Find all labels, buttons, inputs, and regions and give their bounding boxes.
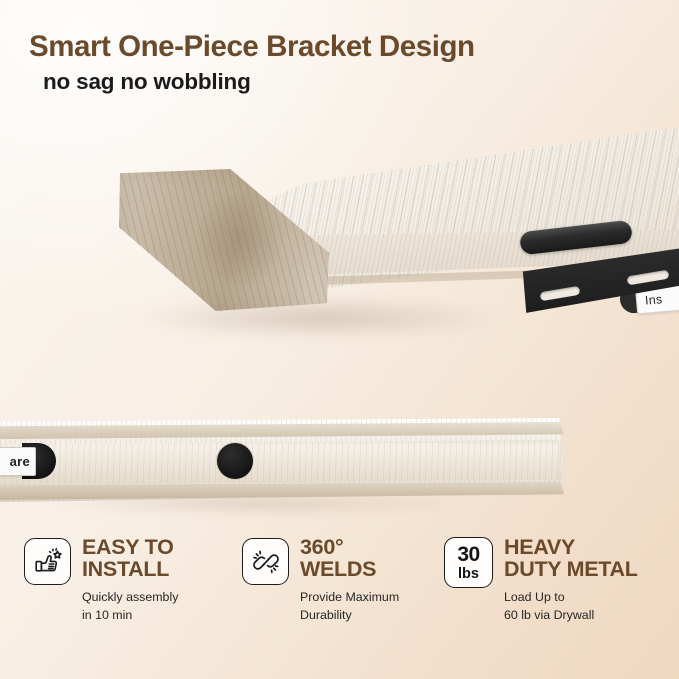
shelf-drill-hole <box>217 443 253 479</box>
badge-unit: lbs <box>458 567 479 582</box>
feature-title: 360° WELDS <box>300 537 399 580</box>
feature-strip: EASY TO INSTALL Quickly assembly in 10 m… <box>24 536 672 624</box>
feature-text-block: HEAVY DUTY METAL Load Up to 60 lb via Dr… <box>504 536 638 624</box>
feature-title: EASY TO INSTALL <box>82 537 178 580</box>
chain-link-weld-icon <box>242 538 289 585</box>
feature-easy-to-install: EASY TO INSTALL Quickly assembly in 10 m… <box>24 536 242 624</box>
wood-knot-mark <box>420 140 461 158</box>
shelf-sticker-label-detail: are <box>0 447 36 476</box>
feature-subtitle: Provide Maximum Durability <box>300 589 399 624</box>
feature-360-welds: 360° WELDS Provide Maximum Durability <box>242 536 444 624</box>
shelf-routed-channel <box>0 440 562 486</box>
feature-subtitle: Quickly assembly in 10 min <box>82 589 178 624</box>
product-feature-page: Smart One-Piece Bracket Design no sag no… <box>0 0 679 679</box>
weight-capacity-badge: 30 lbs <box>444 537 493 588</box>
page-subtitle: no sag no wobbling <box>43 70 649 95</box>
page-title: Smart One-Piece Bracket Design <box>29 31 649 63</box>
header-block: Smart One-Piece Bracket Design no sag no… <box>29 31 649 95</box>
detail-product-photo <box>0 418 679 514</box>
feature-subtitle: Load Up to 60 lb via Drywall <box>504 589 638 624</box>
badge-number: 30 <box>457 544 479 565</box>
hero-product-photo: Ins <box>0 96 679 356</box>
shelf-sticker-text-detail: are <box>10 454 30 469</box>
feature-heavy-duty-metal: 30 lbs HEAVY DUTY METAL Load Up to 60 lb… <box>444 536 672 624</box>
feature-text-block: 360° WELDS Provide Maximum Durability <box>300 536 399 624</box>
thumbs-up-sparkle-icon <box>24 538 71 585</box>
shelf-sticker-text: Ins <box>644 292 662 307</box>
feature-title: HEAVY DUTY METAL <box>504 537 638 580</box>
hero-drop-shadow <box>120 292 590 344</box>
feature-text-block: EASY TO INSTALL Quickly assembly in 10 m… <box>82 536 178 624</box>
